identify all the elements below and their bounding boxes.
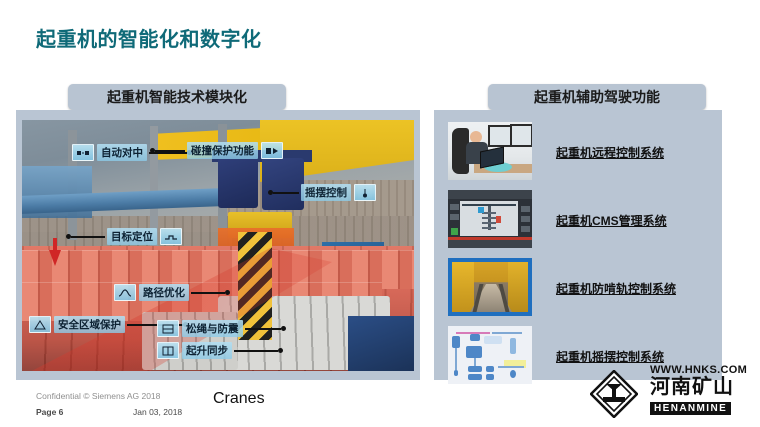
callout-route-optimization: 路径优化 xyxy=(114,284,230,301)
list-item-label[interactable]: 起重机防啃轨控制系统 xyxy=(556,280,676,297)
red-arrow-head-icon xyxy=(49,250,61,266)
callout-label: 摇摆控制 xyxy=(301,184,351,201)
safezone-icon xyxy=(29,316,51,333)
slackrope-icon xyxy=(157,320,179,337)
callout-label: 安全区域保护 xyxy=(54,316,125,333)
page-title: 起重机的智能化和数字化 xyxy=(36,23,262,52)
left-section-header: 起重机智能技术模块化 xyxy=(68,84,286,110)
list-item-label[interactable]: 起重机远程控制系统 xyxy=(556,144,664,161)
henanmine-diamond-icon xyxy=(590,370,638,418)
remote-operator-desk-photo xyxy=(448,122,532,180)
left-section-header-label: 起重机智能技术模块化 xyxy=(107,87,247,107)
right-panel: 起重机远程控制系统 起重机CMS管理系统 xyxy=(434,110,722,380)
slide: 起重机的智能化和数字化 起重机智能技术模块化 xyxy=(0,0,760,427)
company-logo: WWW.HNKS.COM 河南矿山 HENANMINE xyxy=(590,366,750,422)
callout-label: 起升同步 xyxy=(182,342,232,359)
right-section-header-label: 起重机辅助驾驶功能 xyxy=(534,87,660,107)
rail-track-photo xyxy=(448,258,532,316)
anti-sway-schematic-diagram xyxy=(448,326,532,384)
callout-label: 自动对中 xyxy=(97,144,147,161)
list-item[interactable]: 起重机远程控制系统 xyxy=(434,122,722,188)
list-item-label[interactable]: 起重机摇摆控制系统 xyxy=(556,348,664,365)
logo-name-cn: 河南矿山 xyxy=(650,376,734,398)
callout-slack-rope-antivibration: 松绳与防震 xyxy=(157,320,286,337)
route-icon xyxy=(114,284,136,301)
centering-icon xyxy=(72,144,94,161)
sway-icon xyxy=(354,184,376,201)
callout-sway-control: 摇摆控制 xyxy=(268,184,376,201)
callout-target-positioning: 目标定位 xyxy=(66,228,182,245)
slide-date: Jan 03, 2018 xyxy=(133,407,182,417)
collision-icon xyxy=(261,142,283,159)
right-section-header: 起重机辅助驾驶功能 xyxy=(488,84,706,110)
callout-hoist-synchronization: 起升同步 xyxy=(157,342,283,359)
list-item[interactable]: 起重机CMS管理系统 xyxy=(434,190,722,256)
hoistsync-icon xyxy=(157,342,179,359)
callout-label: 松绳与防震 xyxy=(182,320,243,337)
list-item-label[interactable]: 起重机CMS管理系统 xyxy=(556,212,667,229)
callout-label: 路径优化 xyxy=(139,284,189,301)
logo-name-en: HENANMINE xyxy=(650,402,731,415)
callout-label: 碰撞保护功能 xyxy=(187,142,258,159)
list-item[interactable]: 起重机防啃轨控制系统 xyxy=(434,258,722,324)
crane-factory-photo: 自动对中 碰撞保护功能 摇摆控制 目标定位 xyxy=(22,120,414,371)
logo-url: WWW.HNKS.COM xyxy=(650,364,747,376)
callout-collision-protection: 碰撞保护功能 xyxy=(150,142,283,159)
positioning-icon xyxy=(160,228,182,245)
callout-label: 目标定位 xyxy=(107,228,157,245)
page-number: Page 6 xyxy=(36,407,63,417)
slide-topic: Cranes xyxy=(213,390,265,408)
confidential-notice: Confidential © Siemens AG 2018 xyxy=(36,391,160,401)
cms-software-screenshot xyxy=(448,190,532,248)
